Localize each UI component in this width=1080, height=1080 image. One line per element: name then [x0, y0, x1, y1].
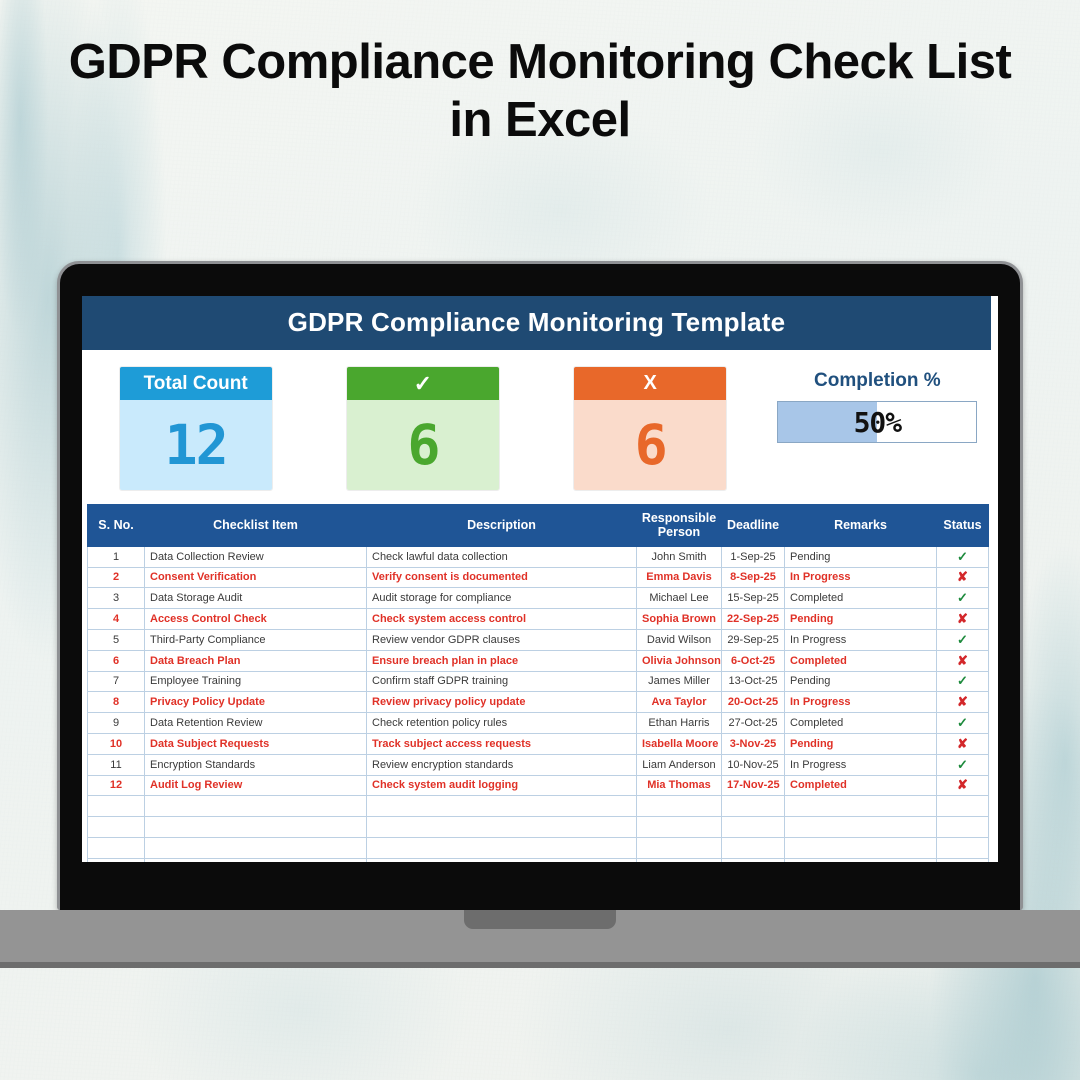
- cell-item[interactable]: Access Control Check: [145, 609, 367, 630]
- column-header-checklist-item[interactable]: Checklist Item: [145, 505, 367, 547]
- laptop-mockup: GDPR Compliance Monitoring Template Tota…: [57, 261, 1023, 968]
- table-row[interactable]: 7Employee TrainingConfirm staff GDPR tra…: [88, 671, 989, 692]
- cell-item[interactable]: Data Breach Plan: [145, 650, 367, 671]
- cell-remarks[interactable]: Completed: [785, 588, 937, 609]
- cell-empty[interactable]: [722, 858, 785, 862]
- cell-desc[interactable]: Review encryption standards: [367, 754, 637, 775]
- cell-desc[interactable]: Audit storage for compliance: [367, 588, 637, 609]
- table-row[interactable]: 6Data Breach PlanEnsure breach plan in p…: [88, 650, 989, 671]
- table-row[interactable]: 8Privacy Policy UpdateReview privacy pol…: [88, 692, 989, 713]
- cell-desc[interactable]: Verify consent is documented: [367, 567, 637, 588]
- cell-empty[interactable]: [145, 796, 367, 817]
- cell-desc[interactable]: Track subject access requests: [367, 733, 637, 754]
- cell-no[interactable]: 1: [88, 546, 145, 567]
- cell-remarks[interactable]: Pending: [785, 546, 937, 567]
- column-header-description[interactable]: Description: [367, 505, 637, 547]
- cell-empty[interactable]: [722, 837, 785, 858]
- table-row-empty[interactable]: [88, 817, 989, 838]
- column-header-remarks[interactable]: Remarks: [785, 505, 937, 547]
- cell-desc[interactable]: Confirm staff GDPR training: [367, 671, 637, 692]
- kpi-slot-pending: X 6: [537, 367, 764, 490]
- cell-empty[interactable]: [937, 858, 989, 862]
- completion-widget: Completion % 50%: [777, 367, 977, 443]
- cross-icon: ✘: [957, 777, 968, 792]
- cell-empty[interactable]: [785, 837, 937, 858]
- cell-resp[interactable]: David Wilson: [637, 629, 722, 650]
- cell-deadline[interactable]: 29-Sep-25: [722, 629, 785, 650]
- kpi-card-pending-count[interactable]: X 6: [574, 367, 726, 490]
- cell-status[interactable]: ✓: [937, 546, 989, 567]
- cell-deadline[interactable]: 20-Oct-25: [722, 692, 785, 713]
- cell-status[interactable]: ✓: [937, 588, 989, 609]
- cell-deadline[interactable]: 27-Oct-25: [722, 713, 785, 734]
- cell-empty[interactable]: [367, 858, 637, 862]
- cell-deadline[interactable]: 17-Nov-25: [722, 775, 785, 796]
- kpi-total-count-label: Total Count: [120, 367, 272, 400]
- cell-desc[interactable]: Review privacy policy update: [367, 692, 637, 713]
- cell-item[interactable]: Audit Log Review: [145, 775, 367, 796]
- cell-no[interactable]: 11: [88, 754, 145, 775]
- cell-status[interactable]: ✘: [937, 609, 989, 630]
- cell-resp[interactable]: Olivia Johnson: [637, 650, 722, 671]
- cell-status[interactable]: ✓: [937, 671, 989, 692]
- table-row[interactable]: 10Data Subject RequestsTrack subject acc…: [88, 733, 989, 754]
- cell-no[interactable]: 9: [88, 713, 145, 734]
- table-body: 1Data Collection ReviewCheck lawful data…: [88, 546, 989, 862]
- table-row[interactable]: 2Consent VerificationVerify consent is d…: [88, 567, 989, 588]
- table-row-empty[interactable]: [88, 858, 989, 862]
- cell-empty[interactable]: [367, 817, 637, 838]
- cell-empty[interactable]: [637, 837, 722, 858]
- kpi-card-total-count[interactable]: Total Count 12: [120, 367, 272, 490]
- cell-item[interactable]: Data Storage Audit: [145, 588, 367, 609]
- cell-desc[interactable]: Check system audit logging: [367, 775, 637, 796]
- cell-desc[interactable]: Check system access control: [367, 609, 637, 630]
- cell-remarks[interactable]: In Progress: [785, 692, 937, 713]
- table-header-row: S. No. Checklist Item Description Respon…: [88, 505, 989, 547]
- cell-empty[interactable]: [145, 858, 367, 862]
- cell-remarks[interactable]: Completed: [785, 775, 937, 796]
- cell-empty[interactable]: [88, 837, 145, 858]
- cell-desc[interactable]: Ensure breach plan in place: [367, 650, 637, 671]
- spreadsheet-title: GDPR Compliance Monitoring Template: [82, 296, 991, 350]
- cell-empty[interactable]: [785, 796, 937, 817]
- check-icon: ✓: [957, 715, 968, 730]
- cell-no[interactable]: 8: [88, 692, 145, 713]
- cell-empty[interactable]: [145, 837, 367, 858]
- cell-no[interactable]: 12: [88, 775, 145, 796]
- table-row[interactable]: 9Data Retention ReviewCheck retention po…: [88, 713, 989, 734]
- cell-item[interactable]: Data Retention Review: [145, 713, 367, 734]
- cell-resp[interactable]: James Miller: [637, 671, 722, 692]
- kpi-card-completed-count[interactable]: ✓ 6: [347, 367, 499, 490]
- check-icon: ✓: [957, 549, 968, 564]
- check-icon: ✓: [957, 673, 968, 688]
- cell-remarks[interactable]: Completed: [785, 650, 937, 671]
- table-header: S. No. Checklist Item Description Respon…: [88, 505, 989, 547]
- cell-empty[interactable]: [785, 858, 937, 862]
- kpi-slot-completion: Completion % 50%: [764, 367, 991, 443]
- cell-desc[interactable]: Check lawful data collection: [367, 546, 637, 567]
- table-row-empty[interactable]: [88, 837, 989, 858]
- column-header-status[interactable]: Status: [937, 505, 989, 547]
- checklist-table-wrap: S. No. Checklist Item Description Respon…: [82, 504, 991, 862]
- kpi-total-count-value: 12: [120, 400, 272, 490]
- cell-status[interactable]: ✓: [937, 629, 989, 650]
- table-row[interactable]: 12Audit Log ReviewCheck system audit log…: [88, 775, 989, 796]
- check-icon: ✓: [957, 632, 968, 647]
- spreadsheet: GDPR Compliance Monitoring Template Tota…: [82, 296, 998, 862]
- cell-deadline[interactable]: 10-Nov-25: [722, 754, 785, 775]
- cell-remarks[interactable]: In Progress: [785, 629, 937, 650]
- cell-empty[interactable]: [88, 817, 145, 838]
- cell-no[interactable]: 6: [88, 650, 145, 671]
- cell-remarks[interactable]: Pending: [785, 609, 937, 630]
- cell-status[interactable]: ✘: [937, 567, 989, 588]
- table-row[interactable]: 5Third-Party ComplianceReview vendor GDP…: [88, 629, 989, 650]
- cell-item[interactable]: Third-Party Compliance: [145, 629, 367, 650]
- cross-icon: ✘: [957, 611, 968, 626]
- cell-deadline[interactable]: 22-Sep-25: [722, 609, 785, 630]
- cell-no[interactable]: 4: [88, 609, 145, 630]
- column-header-deadline[interactable]: Deadline: [722, 505, 785, 547]
- cell-remarks[interactable]: Pending: [785, 733, 937, 754]
- table-row[interactable]: 11Encryption StandardsReview encryption …: [88, 754, 989, 775]
- laptop-base: [0, 910, 1080, 968]
- cell-empty[interactable]: [637, 796, 722, 817]
- cross-icon: ✘: [957, 736, 968, 751]
- cell-item[interactable]: Consent Verification: [145, 567, 367, 588]
- kpi-slot-total: Total Count 12: [82, 367, 309, 490]
- check-icon: ✓: [957, 757, 968, 772]
- kpi-completed-count-value: 6: [347, 400, 499, 490]
- cell-no[interactable]: 7: [88, 671, 145, 692]
- cell-resp[interactable]: Emma Davis: [637, 567, 722, 588]
- laptop-screen: GDPR Compliance Monitoring Template Tota…: [82, 296, 998, 862]
- cell-empty[interactable]: [367, 837, 637, 858]
- cell-deadline[interactable]: 15-Sep-25: [722, 588, 785, 609]
- kpi-slot-completed: ✓ 6: [309, 367, 536, 490]
- cell-item[interactable]: Data Collection Review: [145, 546, 367, 567]
- cell-empty[interactable]: [722, 796, 785, 817]
- checklist-table: S. No. Checklist Item Description Respon…: [87, 504, 989, 862]
- cell-empty[interactable]: [937, 817, 989, 838]
- check-icon: ✓: [347, 367, 499, 400]
- completion-label: Completion %: [777, 370, 977, 392]
- cell-deadline[interactable]: 6-Oct-25: [722, 650, 785, 671]
- cell-item[interactable]: Data Subject Requests: [145, 733, 367, 754]
- cell-status[interactable]: ✘: [937, 775, 989, 796]
- cell-resp[interactable]: Isabella Moore: [637, 733, 722, 754]
- cell-resp[interactable]: Ethan Harris: [637, 713, 722, 734]
- column-header-responsible-person[interactable]: Responsible Person: [637, 505, 722, 547]
- column-header-s-no[interactable]: S. No.: [88, 505, 145, 547]
- completion-progress-value: 50%: [778, 402, 976, 442]
- cell-empty[interactable]: [937, 837, 989, 858]
- table-row[interactable]: 3Data Storage AuditAudit storage for com…: [88, 588, 989, 609]
- cell-resp[interactable]: Michael Lee: [637, 588, 722, 609]
- cell-empty[interactable]: [722, 817, 785, 838]
- cell-item[interactable]: Privacy Policy Update: [145, 692, 367, 713]
- table-row[interactable]: 4Access Control CheckCheck system access…: [88, 609, 989, 630]
- cross-icon: X: [574, 367, 726, 400]
- cell-item[interactable]: Encryption Standards: [145, 754, 367, 775]
- table-row-empty[interactable]: [88, 796, 989, 817]
- cell-empty[interactable]: [937, 796, 989, 817]
- cross-icon: ✘: [957, 569, 968, 584]
- cell-empty[interactable]: [637, 858, 722, 862]
- cell-desc[interactable]: Check retention policy rules: [367, 713, 637, 734]
- cell-resp[interactable]: Liam Anderson: [637, 754, 722, 775]
- check-icon: ✓: [957, 590, 968, 605]
- cell-remarks[interactable]: Pending: [785, 671, 937, 692]
- cell-remarks[interactable]: In Progress: [785, 567, 937, 588]
- cell-no[interactable]: 10: [88, 733, 145, 754]
- cell-status[interactable]: ✘: [937, 692, 989, 713]
- cell-empty[interactable]: [785, 817, 937, 838]
- cell-empty[interactable]: [88, 796, 145, 817]
- laptop-lid: GDPR Compliance Monitoring Template Tota…: [57, 261, 1023, 910]
- cell-empty[interactable]: [88, 858, 145, 862]
- cell-remarks[interactable]: Completed: [785, 713, 937, 734]
- cell-status[interactable]: ✘: [937, 650, 989, 671]
- cell-status[interactable]: ✓: [937, 754, 989, 775]
- kpi-pending-count-value: 6: [574, 400, 726, 490]
- kpi-strip: Total Count 12 ✓ 6 X 6: [82, 350, 991, 504]
- cell-deadline[interactable]: 13-Oct-25: [722, 671, 785, 692]
- cell-item[interactable]: Employee Training: [145, 671, 367, 692]
- cell-status[interactable]: ✓: [937, 713, 989, 734]
- cell-deadline[interactable]: 3-Nov-25: [722, 733, 785, 754]
- laptop-base-notch: [464, 910, 616, 929]
- cell-deadline[interactable]: 8-Sep-25: [722, 567, 785, 588]
- cell-status[interactable]: ✘: [937, 733, 989, 754]
- cell-resp[interactable]: John Smith: [637, 546, 722, 567]
- cross-icon: ✘: [957, 653, 968, 668]
- table-row[interactable]: 1Data Collection ReviewCheck lawful data…: [88, 546, 989, 567]
- cell-no[interactable]: 5: [88, 629, 145, 650]
- cell-empty[interactable]: [145, 817, 367, 838]
- cell-no[interactable]: 2: [88, 567, 145, 588]
- cell-no[interactable]: 3: [88, 588, 145, 609]
- cell-desc[interactable]: Review vendor GDPR clauses: [367, 629, 637, 650]
- cross-icon: ✘: [957, 694, 968, 709]
- completion-progress-bar[interactable]: 50%: [777, 401, 977, 443]
- cell-deadline[interactable]: 1-Sep-25: [722, 546, 785, 567]
- cell-remarks[interactable]: In Progress: [785, 754, 937, 775]
- page-title: GDPR Compliance Monitoring Check List in…: [60, 34, 1020, 150]
- cell-empty[interactable]: [637, 817, 722, 838]
- cell-resp[interactable]: Ava Taylor: [637, 692, 722, 713]
- cell-resp[interactable]: Sophia Brown: [637, 609, 722, 630]
- cell-resp[interactable]: Mia Thomas: [637, 775, 722, 796]
- cell-empty[interactable]: [367, 796, 637, 817]
